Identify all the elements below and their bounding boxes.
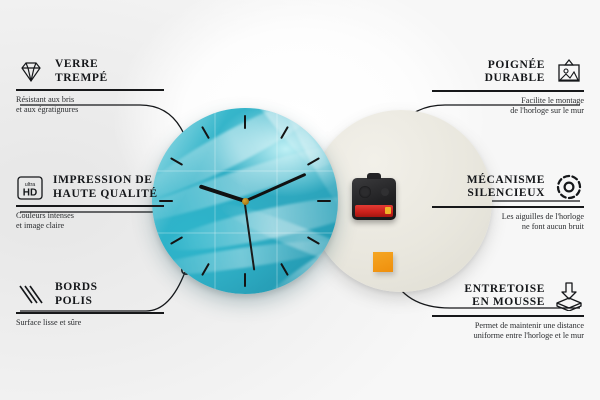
feature-title-line2: POLIS <box>55 295 98 309</box>
clock-tick <box>280 263 289 276</box>
foam-spacer-pad <box>373 252 393 272</box>
feature-desc-line2: de l'horloge sur le mur <box>432 106 584 117</box>
feature-bords-polis: BORDS POLIS Surface lisse et sûre <box>16 281 164 328</box>
foam-spacer-icon <box>554 281 584 311</box>
feature-desc-line1: Permet de maintenir une distance <box>432 321 584 332</box>
ultra-hd-bottom-label: HD <box>23 187 37 198</box>
feature-divider <box>16 312 164 314</box>
battery <box>355 205 393 217</box>
feature-title-line2: TREMPÉ <box>55 72 108 86</box>
gear-icon <box>554 172 584 202</box>
feature-entretoise-en-mousse: ENTRETOISE EN MOUSSE Permet de maintenir… <box>432 281 584 342</box>
clock-tick <box>244 115 246 129</box>
feature-desc-line1: Les aiguilles de l'horloge <box>432 212 584 223</box>
feature-title-line1: BORDS <box>55 281 98 295</box>
feature-title-line1: MÉCANISME <box>467 174 545 188</box>
feature-desc-line1: Résistant aux bris <box>16 95 164 106</box>
clock-tick <box>244 273 246 287</box>
ultra-hd-icon: ultra HD <box>16 175 44 201</box>
feature-desc-line1: Couleurs intenses <box>16 211 164 222</box>
feature-title-line2: DURABLE <box>485 72 545 86</box>
clock-mechanism <box>352 178 396 220</box>
feature-desc-line2: et aux égratignures <box>16 105 164 116</box>
feature-title-line2: SILENCIEUX <box>467 187 545 201</box>
feature-divider <box>432 315 584 317</box>
polished-edges-icon <box>16 283 46 307</box>
feature-desc-line1: Surface lisse et sûre <box>16 318 164 329</box>
feature-title-line2: HAUTE QUALITÉ <box>53 188 158 202</box>
clock-center-cap <box>242 198 249 205</box>
feature-desc-line2: uniforme entre l'horloge et le mur <box>432 331 584 342</box>
feature-title-line1: IMPRESSION DE <box>53 174 158 188</box>
feature-mecanisme-silencieux: MÉCANISME SILENCIEUX Les aiguilles de l'… <box>432 172 584 233</box>
feature-verre-trempe: VERRE TREMPÉ Résistant aux bris et aux é… <box>16 58 164 116</box>
picture-hanger-icon <box>554 58 584 86</box>
feature-divider <box>16 89 164 91</box>
clock-tick <box>201 126 210 139</box>
feature-title-line1: VERRE <box>55 58 108 72</box>
diamond-icon <box>16 60 46 84</box>
product-infographic: VERRE TREMPÉ Résistant aux bris et aux é… <box>0 0 600 400</box>
feature-desc-line2: ne font aucun bruit <box>432 222 584 233</box>
feature-title-line1: POIGNÉE <box>485 59 545 73</box>
clock-front-face <box>152 108 338 294</box>
feature-divider <box>432 90 584 92</box>
clock-tick <box>317 200 331 202</box>
feature-title-line2: EN MOUSSE <box>464 296 545 310</box>
feature-poignee-durable: POIGNÉE DURABLE Facilite le montage de l… <box>432 58 584 117</box>
feature-desc-line1: Facilite le montage <box>432 96 584 107</box>
mechanism-dial-icon <box>359 186 371 198</box>
feature-divider <box>432 206 584 208</box>
feature-divider <box>16 205 164 207</box>
feature-title-line1: ENTRETOISE <box>464 283 545 297</box>
feature-desc-line2: et image claire <box>16 221 164 232</box>
mechanism-dial-secondary-icon <box>381 188 389 196</box>
feature-impression-haute-qualite: ultra HD IMPRESSION DE HAUTE QUALITÉ Cou… <box>16 174 164 232</box>
